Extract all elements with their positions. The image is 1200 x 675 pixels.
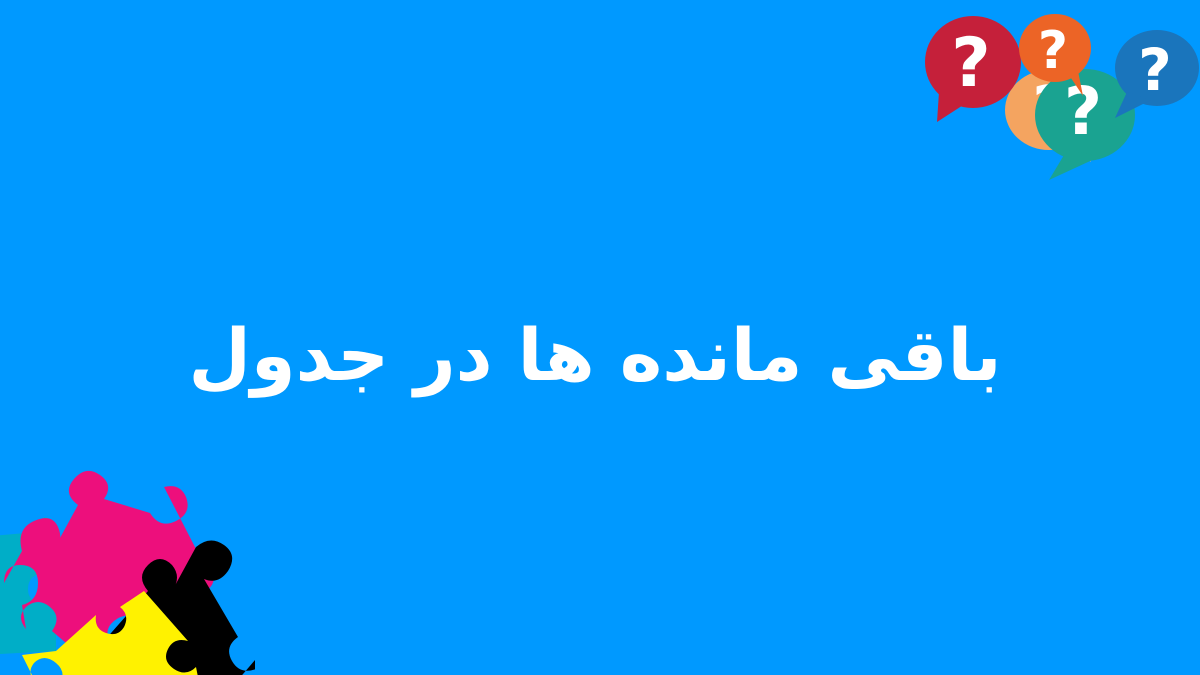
- dark-orange-question-glyph: ?: [1038, 21, 1068, 81]
- slide-canvas: ? ? ? ?: [0, 0, 1200, 675]
- question-mark-bubbles-group: ? ? ? ?: [915, 0, 1200, 180]
- red-question-glyph: ?: [951, 24, 990, 103]
- speech-bubble-steel-blue-icon: ?: [1115, 30, 1199, 118]
- teal-question-glyph: ?: [1064, 73, 1102, 150]
- jigsaw-puzzle-group: [0, 455, 255, 675]
- page-title: باقی مانده ها در جدول: [0, 296, 1200, 416]
- steel-blue-question-glyph: ?: [1138, 36, 1172, 104]
